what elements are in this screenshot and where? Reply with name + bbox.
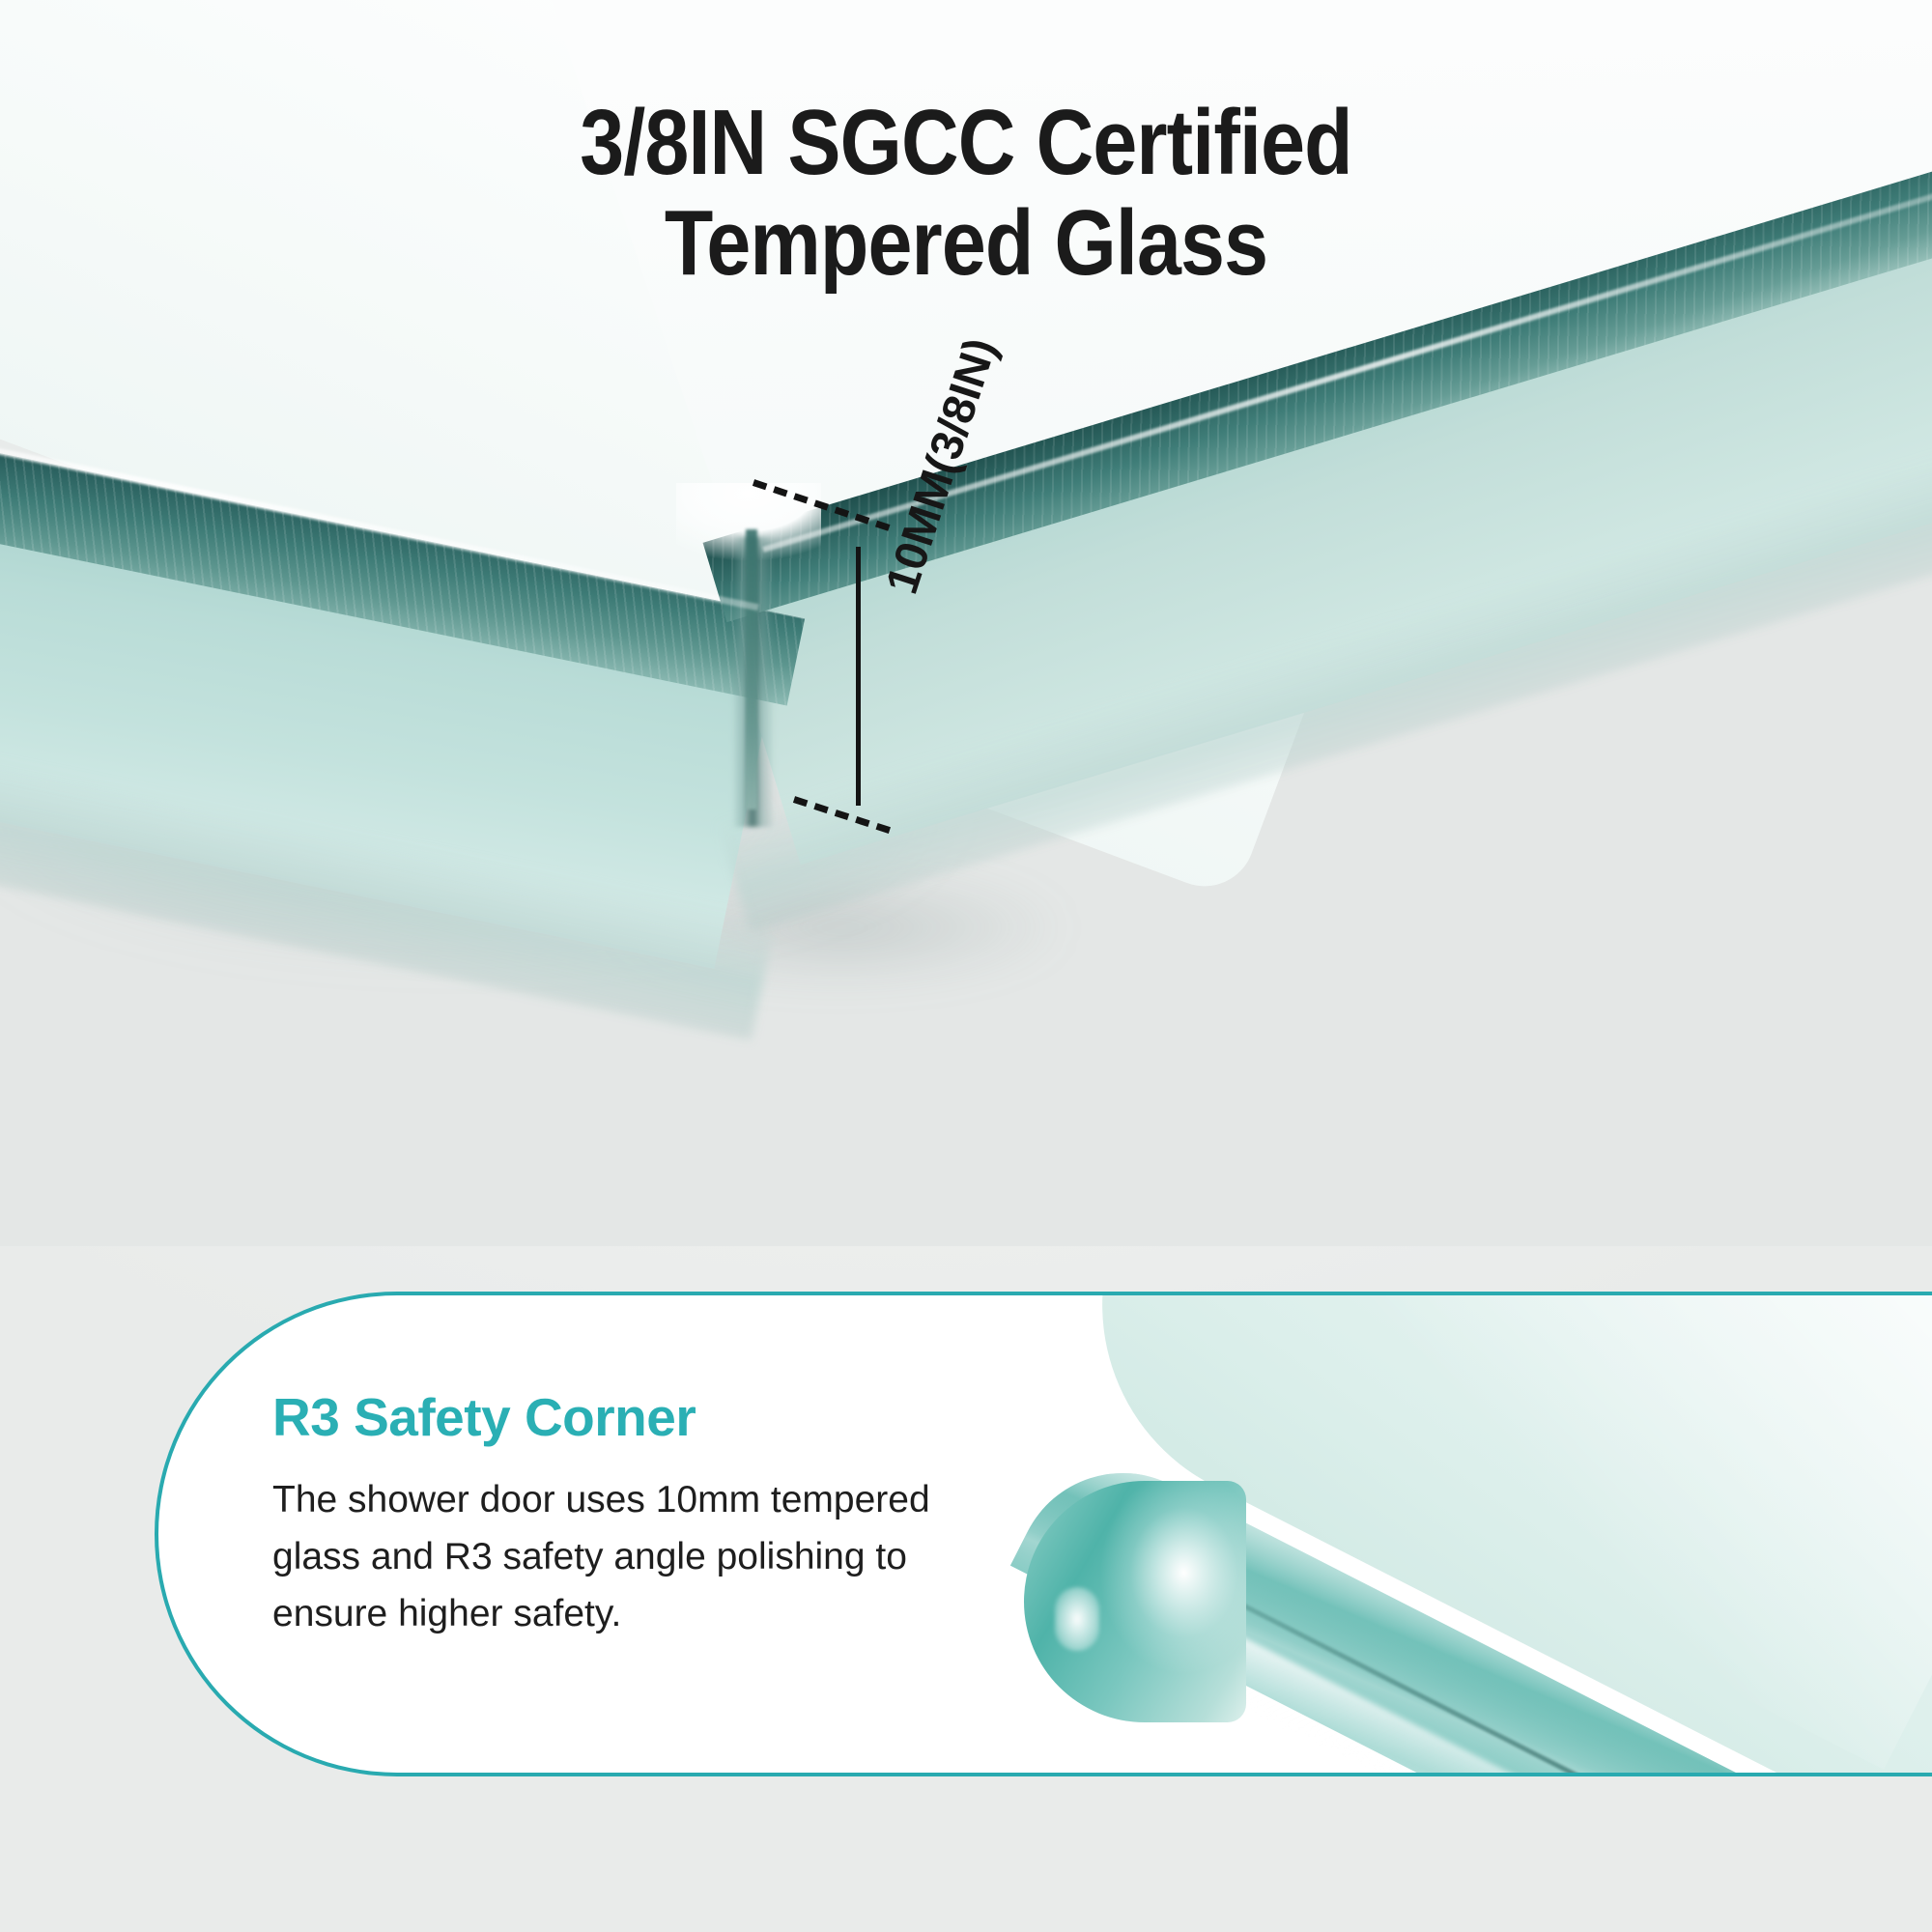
r3-safety-corner-card: R3 Safety Corner The shower door uses 10… bbox=[155, 1292, 1932, 1776]
r3-card-heading: R3 Safety Corner bbox=[272, 1388, 987, 1446]
r3-card-body-line-2: glass and R3 safety angle polishing to bbox=[272, 1528, 987, 1585]
vertical-dimension-bar-icon bbox=[856, 547, 861, 806]
r3-card-body-line-3: ensure higher safety. bbox=[272, 1585, 987, 1642]
r3-rounded-corner-photo bbox=[931, 1292, 1932, 1776]
thickness-dimension-callout: 10MM(3/8IN) bbox=[0, 0, 1932, 1246]
dashed-leader-line-top-icon bbox=[753, 479, 891, 531]
dashed-leader-line-bottom-icon bbox=[793, 796, 891, 834]
r3-card-text-block: R3 Safety Corner The shower door uses 10… bbox=[272, 1388, 987, 1642]
infographic-canvas: 3/8IN SGCC Certified Tempered Glass 10MM… bbox=[0, 0, 1932, 1932]
r3-specular-highlight bbox=[1055, 1587, 1099, 1651]
thickness-label: 10MM(3/8IN) bbox=[874, 331, 1007, 600]
r3-card-body-line-1: The shower door uses 10mm tempered bbox=[272, 1471, 987, 1528]
